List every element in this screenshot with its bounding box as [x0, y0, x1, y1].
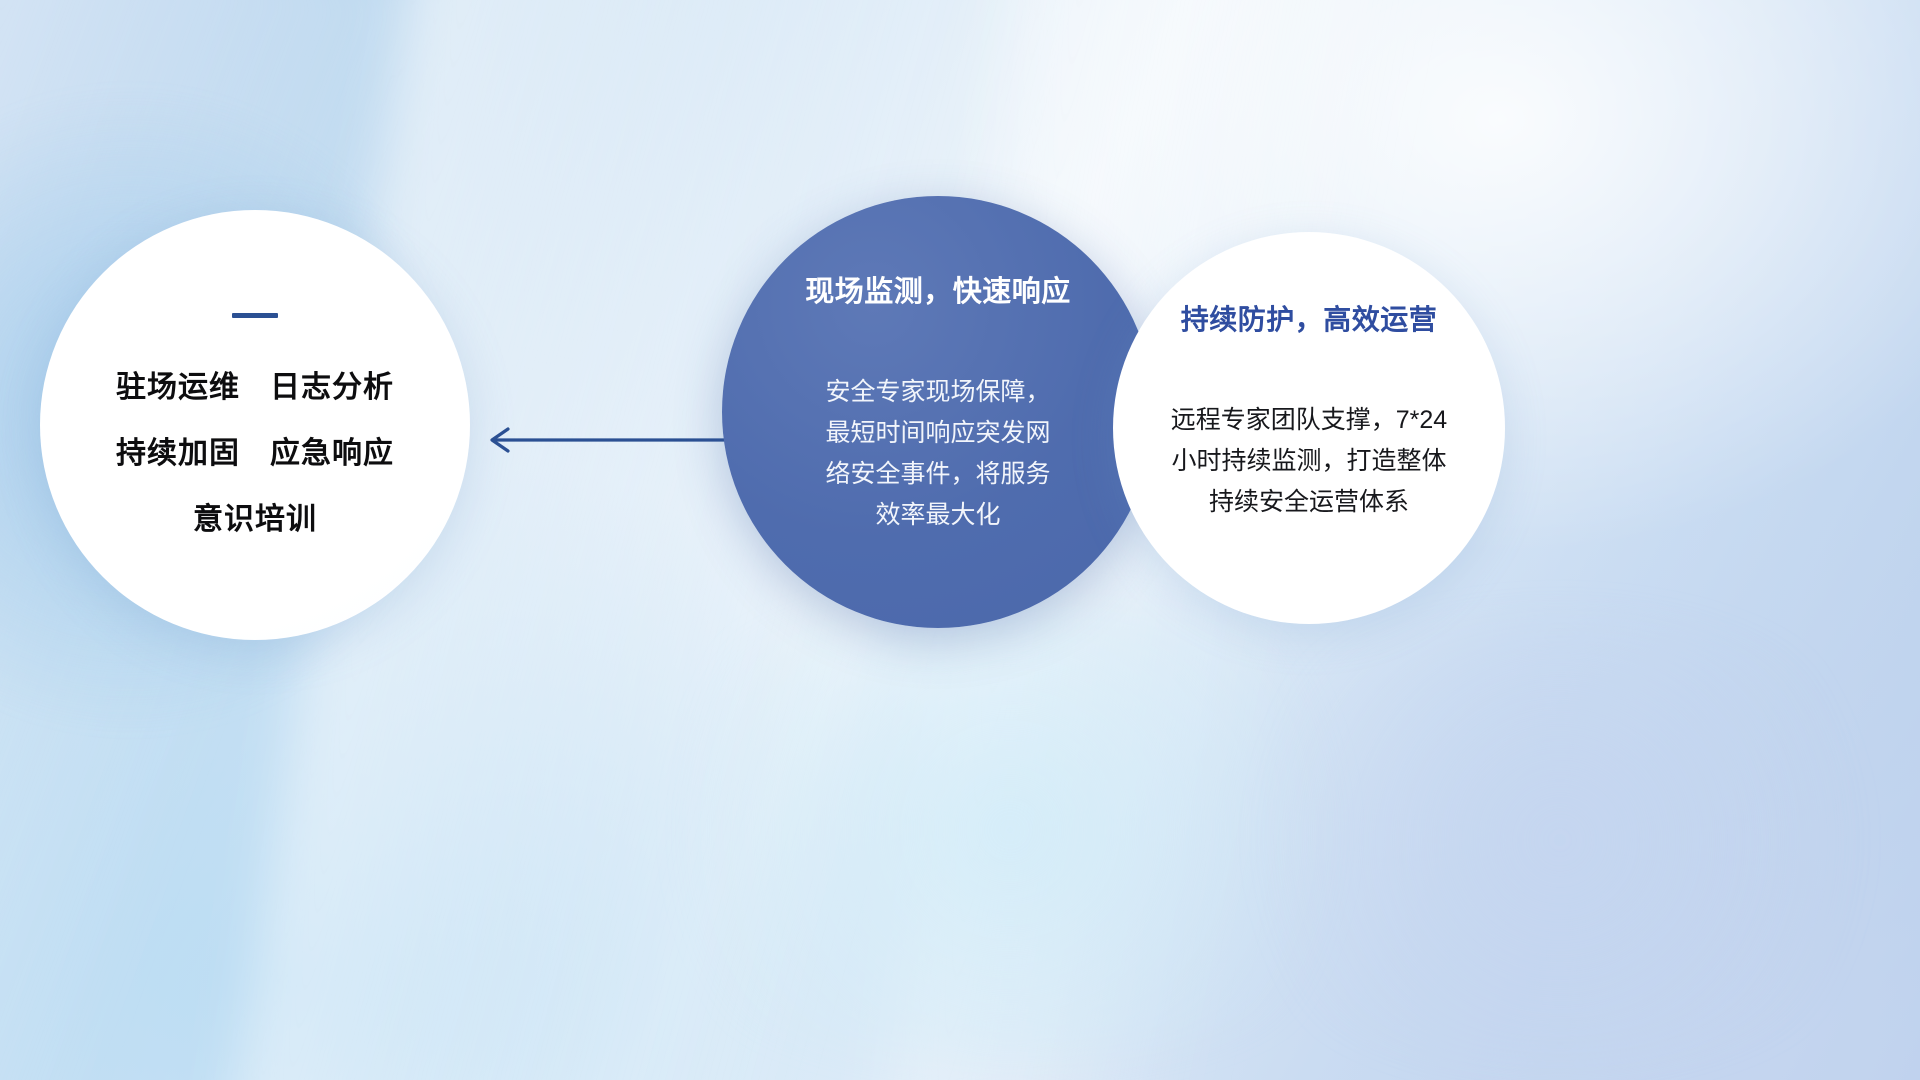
capability-row: 驻场运维 日志分析 — [116, 362, 394, 406]
right-circle-title: 持续防护，高效运营 — [1181, 298, 1438, 338]
arrow-left-icon — [480, 418, 740, 462]
left-capability-circle[interactable]: 驻场运维 日志分析 持续加固 应急响应 意识培训 — [40, 210, 470, 640]
body-line: 络安全事件，将服务 — [825, 454, 1050, 495]
mid-onsite-monitoring-circle[interactable]: 现场监测，快速响应 安全专家现场保障， 最短时间响应突发网 络安全事件，将服务 … — [722, 196, 1154, 628]
body-line: 最短时间响应突发网 — [825, 413, 1050, 454]
body-line: 效率最大化 — [825, 495, 1050, 536]
capability-row: 持续加固 应急响应 — [116, 428, 394, 472]
capability-list: 驻场运维 日志分析 持续加固 应急响应 意识培训 — [116, 362, 394, 538]
background-glow-bottom — [560, 600, 1460, 1060]
capability-tag: 驻场运维 — [116, 362, 240, 406]
body-line: 持续安全运营体系 — [1171, 482, 1447, 523]
body-line: 小时持续监测，打造整体 — [1171, 441, 1447, 482]
mid-circle-title: 现场监测，快速响应 — [805, 268, 1071, 310]
capability-tag: 应急响应 — [270, 428, 394, 472]
background-glow-bottom-right — [1180, 620, 1920, 1060]
capability-tag: 持续加固 — [116, 428, 240, 472]
slide-canvas: 驻场运维 日志分析 持续加固 应急响应 意识培训 现场监测，快速响应 安全专家现… — [0, 0, 1920, 1080]
capability-tag: 日志分析 — [270, 362, 394, 406]
capability-tag: 意识培训 — [193, 494, 317, 538]
body-line: 安全专家现场保障， — [825, 372, 1050, 413]
body-line: 远程专家团队支撑，7*24 — [1171, 400, 1447, 441]
capability-row: 意识培训 — [193, 494, 317, 538]
divider-dash — [232, 313, 278, 318]
mid-circle-body: 安全专家现场保障， 最短时间响应突发网 络安全事件，将服务 效率最大化 — [825, 372, 1050, 536]
right-circle-body: 远程专家团队支撑，7*24 小时持续监测，打造整体 持续安全运营体系 — [1171, 400, 1447, 523]
right-continuous-protection-circle[interactable]: 持续防护，高效运营 远程专家团队支撑，7*24 小时持续监测，打造整体 持续安全… — [1113, 232, 1505, 624]
